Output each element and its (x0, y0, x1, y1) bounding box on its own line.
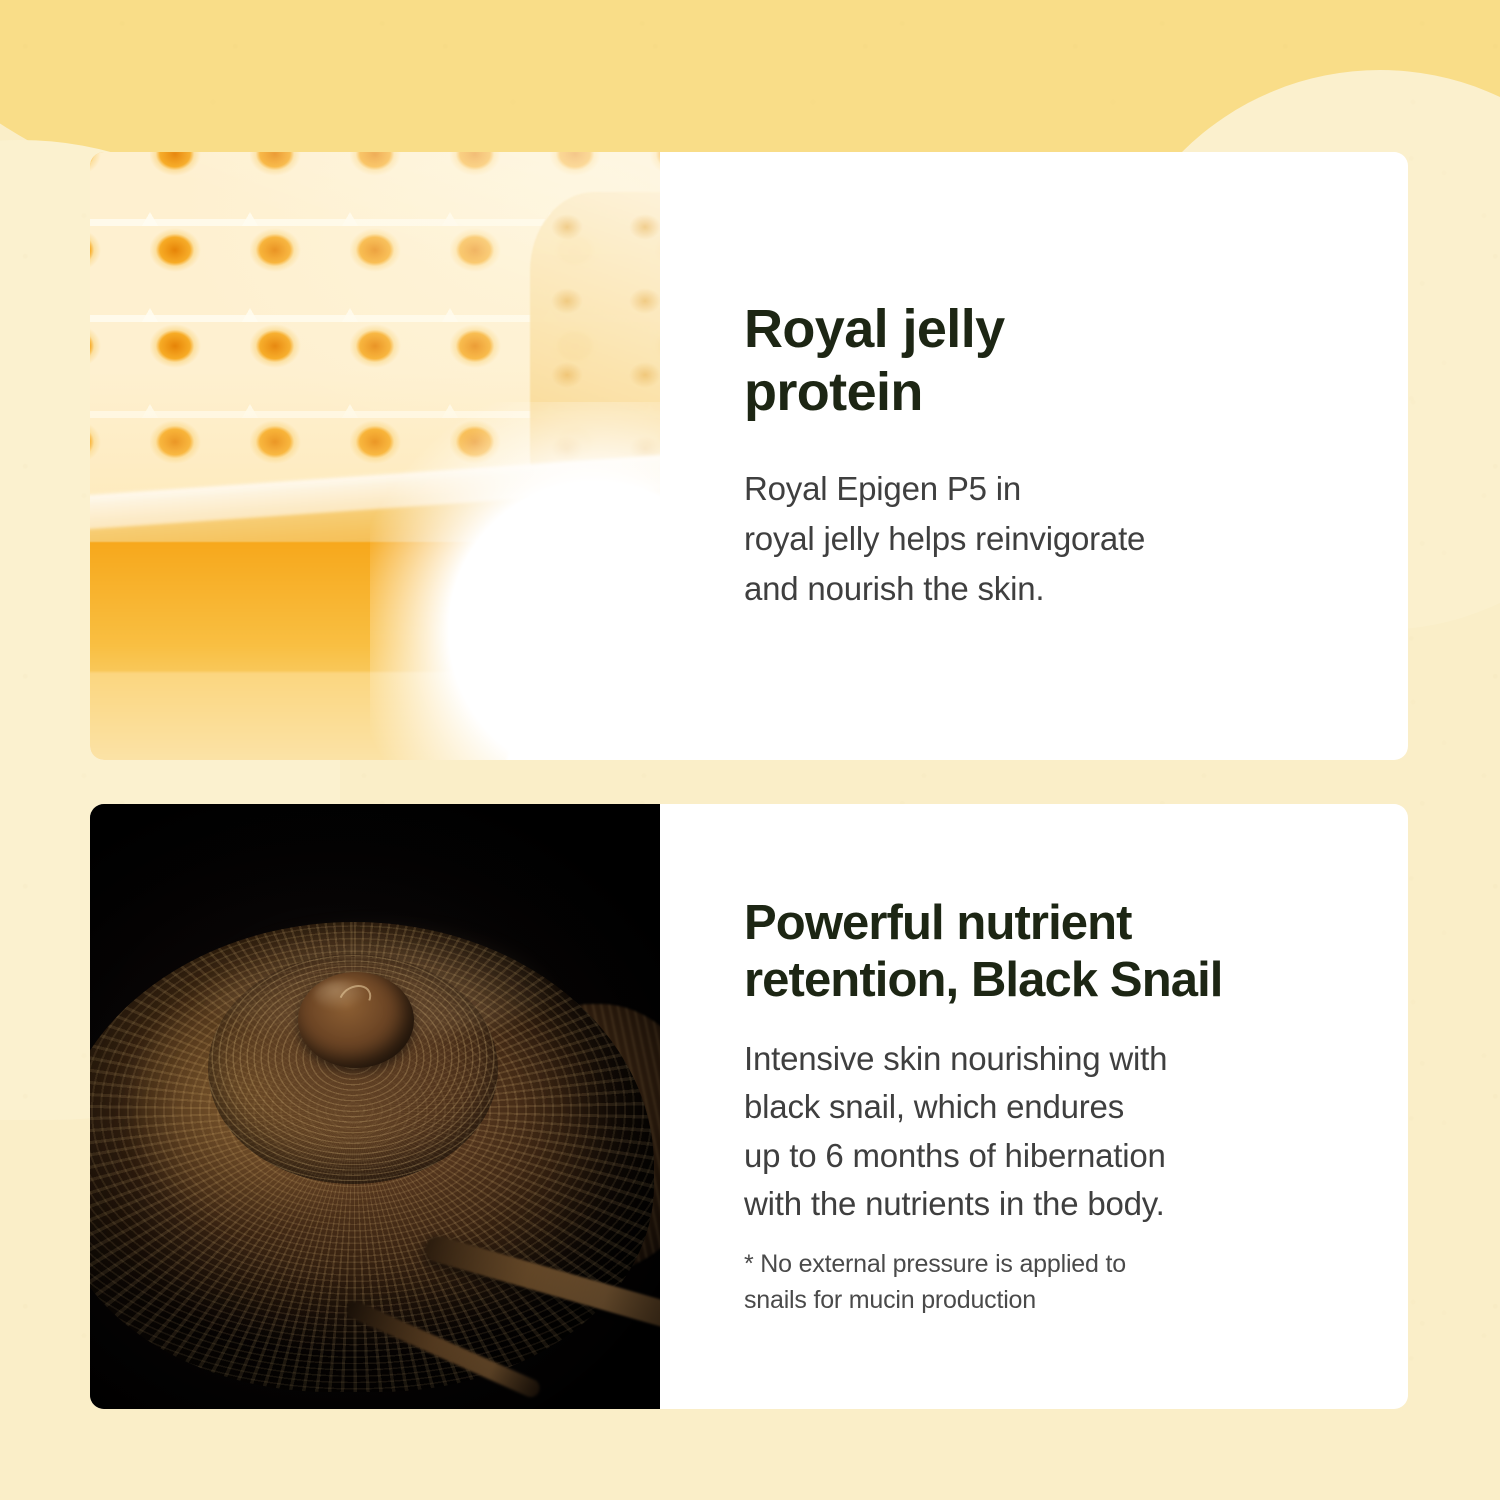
snail-vignette (90, 804, 660, 1409)
black-snail-title: Powerful nutrient retention, Black Snail (744, 895, 1368, 1010)
ingredient-card-list: Royal jelly protein Royal Epigen P5 in r… (90, 152, 1408, 1409)
black-snail-footnote: * No external pressure is applied to sna… (744, 1246, 1368, 1319)
royal-jelly-description: Royal Epigen P5 in royal jelly helps rei… (744, 464, 1368, 614)
honeycomb-scene (90, 152, 660, 760)
snail-scene (90, 804, 660, 1409)
black-snail-text-panel: Powerful nutrient retention, Black Snail… (660, 804, 1408, 1409)
black-snail-image (90, 804, 660, 1409)
black-snail-description: Intensive skin nourishing with black sna… (744, 1035, 1368, 1228)
honeycomb-image (90, 152, 660, 760)
honey-white-backdrop (370, 402, 660, 760)
ingredient-card-black-snail: Powerful nutrient retention, Black Snail… (90, 804, 1408, 1409)
royal-jelly-text-panel: Royal jelly protein Royal Epigen P5 in r… (660, 152, 1408, 760)
product-ingredient-infographic: Royal jelly protein Royal Epigen P5 in r… (0, 0, 1500, 1500)
royal-jelly-title: Royal jelly protein (744, 298, 1368, 424)
ingredient-card-royal-jelly: Royal jelly protein Royal Epigen P5 in r… (90, 152, 1408, 760)
